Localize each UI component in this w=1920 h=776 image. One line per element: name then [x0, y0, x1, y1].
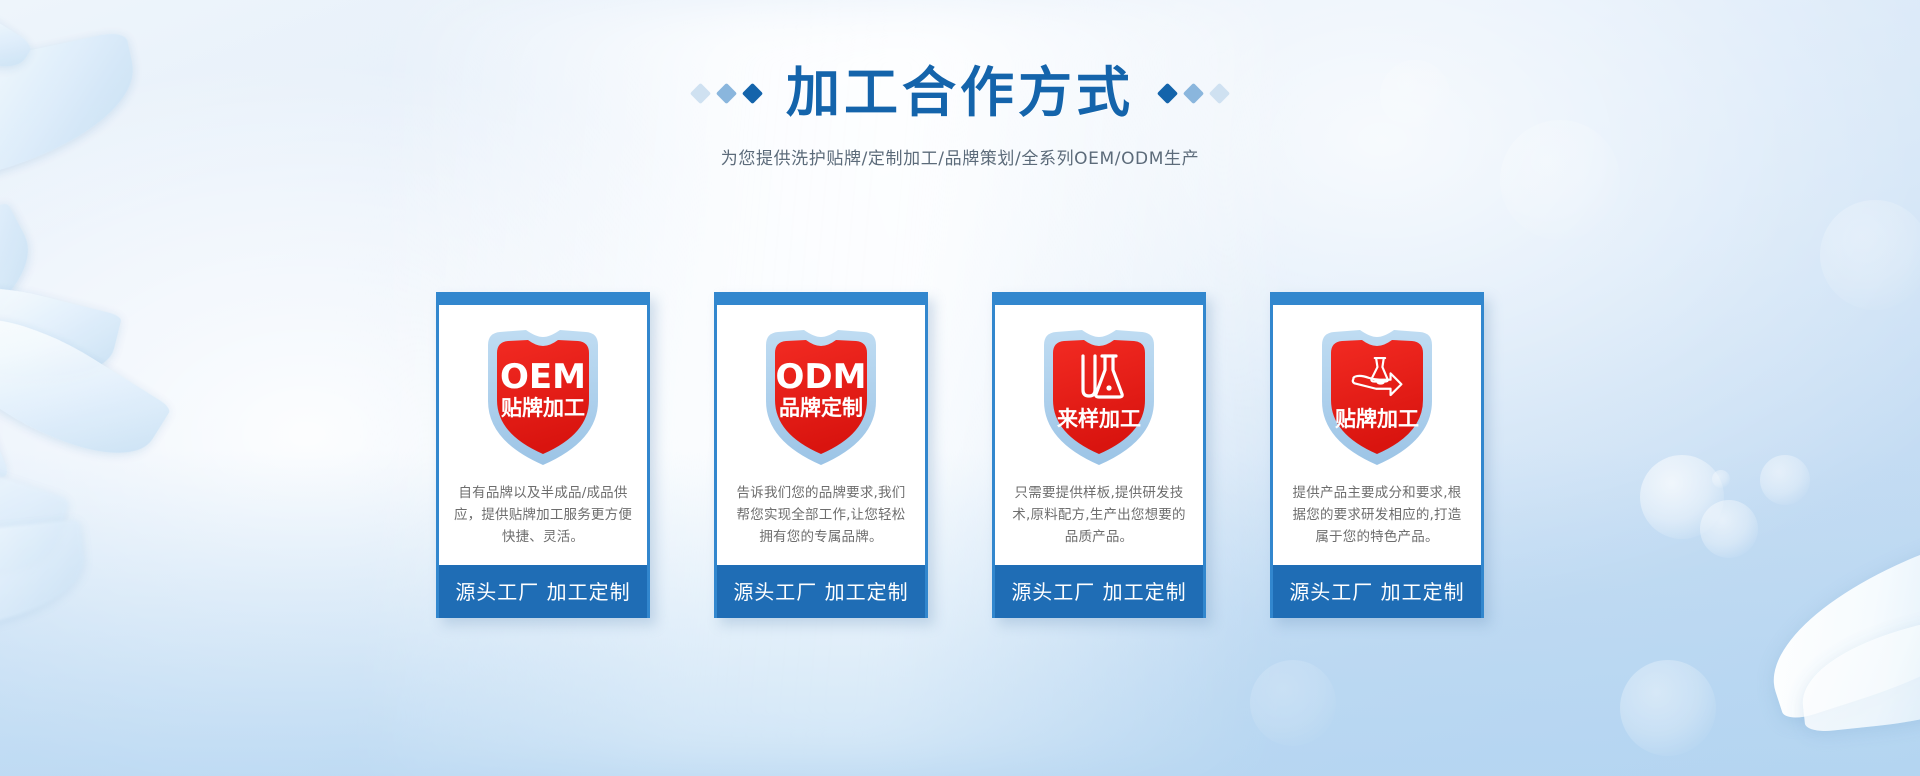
bokeh-circle — [1820, 200, 1920, 310]
card-footer-label[interactable]: 源头工厂 加工定制 — [717, 565, 925, 618]
shield-oem-badge-icon: OEM 贴牌加工 — [478, 323, 608, 469]
shield-cn-label: 来样加工 — [1057, 408, 1141, 430]
bokeh-circle — [1250, 660, 1336, 746]
card-body: 来样加工 只需要提供样板,提供研发技术,原料配方,生产出您想要的品质产品。 — [995, 305, 1203, 565]
card-top-bar — [995, 292, 1203, 305]
card-body: OEM 贴牌加工 自有品牌以及半成品/成品供应，提供贴牌加工服务更方便快捷、灵活… — [439, 305, 647, 565]
card-description: 只需要提供样板,提供研发技术,原料配方,生产出您想要的品质产品。 — [1007, 483, 1191, 551]
card-footer-label[interactable]: 源头工厂 加工定制 — [1273, 565, 1481, 618]
shield-acronym: ODM — [776, 360, 867, 394]
diamond-mid-icon — [716, 82, 737, 103]
card-footer-label[interactable]: 源头工厂 加工定制 — [439, 565, 647, 618]
card-top-bar — [717, 292, 925, 305]
card-top-bar — [439, 292, 647, 305]
diamond-light-icon — [690, 82, 711, 103]
shield-sample-badge-icon: 来样加工 — [1034, 323, 1164, 469]
card-body: ODM 品牌定制 告诉我们您的品牌要求,我们帮您实现全部工作,让您轻松拥有您的专… — [717, 305, 925, 565]
card-top-bar — [1273, 292, 1481, 305]
service-card[interactable]: 贴牌加工 提供产品主要成分和要求,根据您的要求研发相应的,打造属于您的特色产品。… — [1270, 292, 1484, 618]
shield-acronym: OEM — [500, 360, 586, 394]
card-description: 告诉我们您的品牌要求,我们帮您实现全部工作,让您轻松拥有您的专属品牌。 — [729, 483, 913, 551]
page-title: 加工合作方式 — [786, 66, 1134, 120]
diamond-mid-icon — [1183, 82, 1204, 103]
bokeh-circle — [1760, 455, 1810, 505]
card-body: 贴牌加工 提供产品主要成分和要求,根据您的要求研发相应的,打造属于您的特色产品。 — [1273, 305, 1481, 565]
shield-label-group: ODM 品牌定制 — [756, 323, 886, 469]
shield-cn-label: 贴牌加工 — [501, 397, 585, 419]
card-footer-label[interactable]: 源头工厂 加工定制 — [995, 565, 1203, 618]
title-row: 加工合作方式 — [0, 66, 1920, 120]
service-card[interactable]: OEM 贴牌加工 自有品牌以及半成品/成品供应，提供贴牌加工服务更方便快捷、灵活… — [436, 292, 650, 618]
shield-cn-label: 贴牌加工 — [1335, 408, 1419, 430]
shield-label-group: 来样加工 — [1034, 323, 1164, 469]
service-card-list: OEM 贴牌加工 自有品牌以及半成品/成品供应，提供贴牌加工服务更方便快捷、灵活… — [436, 292, 1484, 618]
test-tube-flask-icon — [1071, 350, 1127, 404]
service-card[interactable]: 来样加工 只需要提供样板,提供研发技术,原料配方,生产出您想要的品质产品。 源头… — [992, 292, 1206, 618]
bokeh-circle — [1700, 500, 1758, 558]
section-header: 加工合作方式 为您提供洗护贴牌/定制加工/品牌策划/全系列OEM/ODM生产 — [0, 0, 1920, 169]
bokeh-circle — [1620, 660, 1716, 756]
shield-odm-badge-icon: ODM 品牌定制 — [756, 323, 886, 469]
diamond-dark-icon — [742, 82, 763, 103]
shield-oem-hand-badge-icon: 贴牌加工 — [1312, 323, 1442, 469]
diamond-light-icon — [1209, 82, 1230, 103]
card-description: 提供产品主要成分和要求,根据您的要求研发相应的,打造属于您的特色产品。 — [1285, 483, 1469, 551]
hand-holding-flask-icon — [1349, 350, 1405, 404]
shield-label-group: 贴牌加工 — [1312, 323, 1442, 469]
shield-cn-label: 品牌定制 — [779, 397, 863, 419]
service-card[interactable]: ODM 品牌定制 告诉我们您的品牌要求,我们帮您实现全部工作,让您轻松拥有您的专… — [714, 292, 928, 618]
card-description: 自有品牌以及半成品/成品供应，提供贴牌加工服务更方便快捷、灵活。 — [451, 483, 635, 551]
bokeh-circle — [1712, 470, 1730, 488]
diamonds-left — [693, 86, 760, 101]
diamond-dark-icon — [1157, 82, 1178, 103]
diamonds-right — [1160, 86, 1227, 101]
shield-label-group: OEM 贴牌加工 — [478, 323, 608, 469]
page-subtitle: 为您提供洗护贴牌/定制加工/品牌策划/全系列OEM/ODM生产 — [0, 144, 1920, 169]
